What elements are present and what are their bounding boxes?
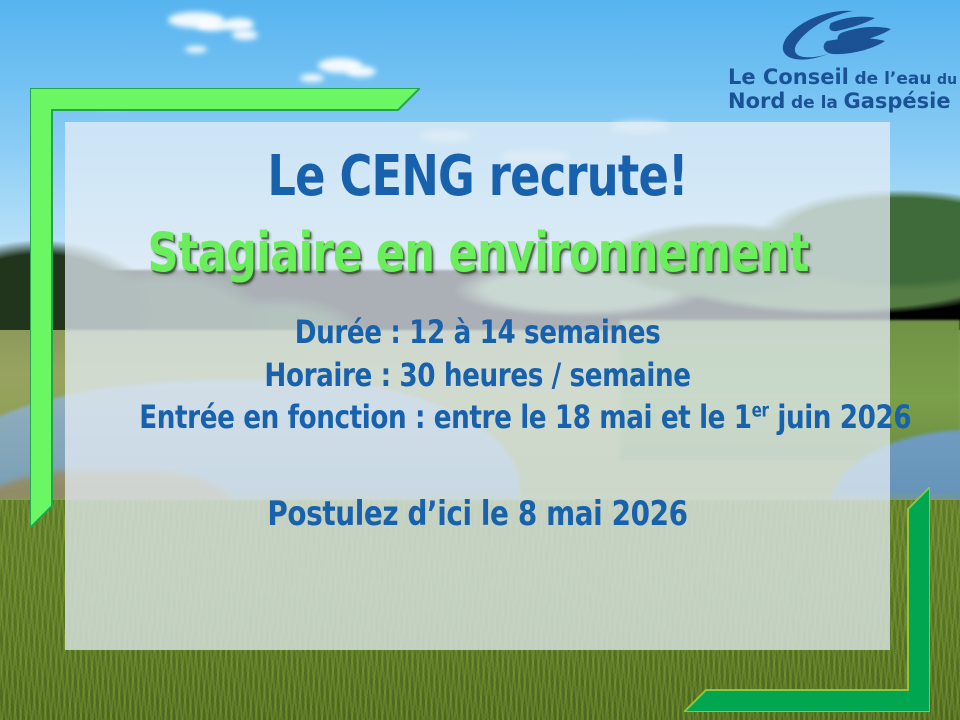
logo-text-nord: Nord (728, 89, 785, 113)
cloud-icon (346, 66, 376, 77)
cloud-icon (224, 18, 254, 31)
cloud-icon (300, 74, 324, 82)
logo-text-du: du (937, 72, 957, 88)
logo-text-gaspesie: Gaspésie (843, 89, 950, 113)
logo-text-le-conseil: Le Conseil (728, 65, 849, 89)
application-deadline: Postulez d’ici le 8 mai 2026 (139, 494, 816, 534)
detail-duration: Durée : 12 à 14 semaines (139, 311, 816, 353)
detail-schedule: Horaire : 30 heures / semaine (139, 354, 816, 396)
recruitment-poster: Le CENG recrute! Stagiaire en environnem… (0, 0, 960, 720)
page-title: Le CENG recrute! (148, 148, 808, 207)
job-details-list: Durée : 12 à 14 semaines Horaire : 30 he… (65, 311, 890, 438)
cloud-icon (185, 46, 207, 53)
organization-logo: Le Conseil de l’eau du Nord de la Gaspés… (728, 6, 944, 113)
logo-line-2: Nord de la Gaspésie (728, 90, 944, 114)
cloud-icon (232, 30, 258, 40)
logo-text-de-la: de la (791, 93, 838, 113)
detail-start-date-prefix: Entrée en fonction : entre le 18 mai et … (139, 398, 751, 436)
poster-content: Le CENG recrute! Stagiaire en environnem… (65, 122, 890, 650)
logo-wordmark: Le Conseil de l’eau du Nord de la Gaspés… (728, 66, 944, 113)
detail-start-date-superscript: er (752, 400, 769, 421)
detail-start-date: Entrée en fonction : entre le 18 mai et … (139, 396, 816, 438)
job-title: Stagiaire en environnement (148, 225, 808, 282)
logo-line-1: Le Conseil de l’eau du (728, 66, 944, 90)
logo-text-de-leau: de l’eau (854, 69, 931, 89)
detail-start-date-suffix: juin 2026 (769, 398, 912, 436)
leaf-feather-logo-icon (728, 6, 944, 66)
